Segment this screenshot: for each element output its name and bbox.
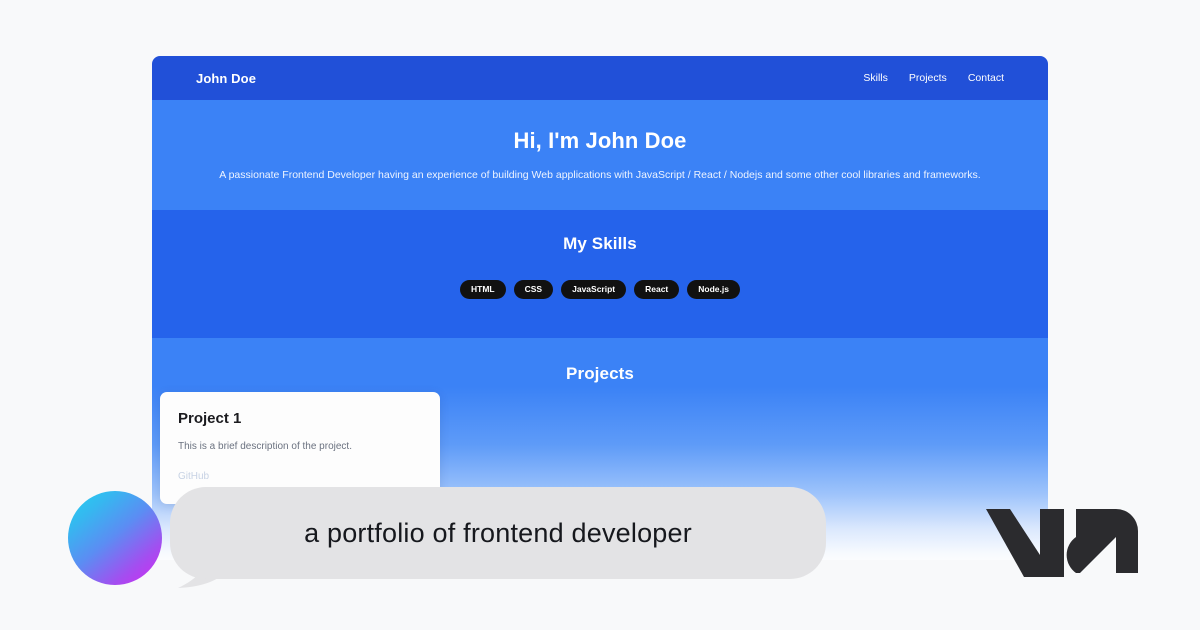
speech-bubble-body: a portfolio of frontend developer	[170, 487, 826, 579]
browser-frame: John Doe Skills Projects Contact Hi, I'm…	[152, 56, 1048, 560]
nav-link-skills[interactable]: Skills	[863, 72, 888, 84]
site-navbar: John Doe Skills Projects Contact	[152, 56, 1048, 100]
gradient-circle-avatar	[68, 491, 162, 585]
nav-links: Skills Projects Contact	[863, 72, 1004, 84]
skill-pill-nodejs[interactable]: Node.js	[687, 280, 740, 299]
projects-section-title: Projects	[152, 364, 1048, 384]
project-card-description: This is a brief description of the proje…	[178, 441, 422, 452]
hero-title: Hi, I'm John Doe	[513, 128, 686, 154]
brand-logo-text[interactable]: John Doe	[196, 71, 256, 86]
skill-pill-javascript[interactable]: JavaScript	[561, 280, 626, 299]
skills-pill-list: HTML CSS JavaScript React Node.js	[460, 280, 740, 299]
caption-text: a portfolio of frontend developer	[304, 518, 692, 549]
caption-bubble: a portfolio of frontend developer	[170, 487, 826, 590]
hero-section: Hi, I'm John Doe A passionate Frontend D…	[152, 100, 1048, 210]
project-card-github-link[interactable]: GitHub	[178, 471, 209, 482]
nav-link-contact[interactable]: Contact	[968, 72, 1004, 84]
skill-pill-css[interactable]: CSS	[514, 280, 553, 299]
project-card-title: Project 1	[178, 410, 422, 427]
hero-subtitle: A passionate Frontend Developer having a…	[219, 168, 980, 183]
skills-section: My Skills HTML CSS JavaScript React Node…	[152, 210, 1048, 338]
nav-link-projects[interactable]: Projects	[909, 72, 947, 84]
skill-pill-react[interactable]: React	[634, 280, 679, 299]
va-logo-icon	[984, 497, 1140, 577]
va-logo	[984, 497, 1140, 577]
skills-section-title: My Skills	[563, 234, 637, 254]
skill-pill-html[interactable]: HTML	[460, 280, 506, 299]
